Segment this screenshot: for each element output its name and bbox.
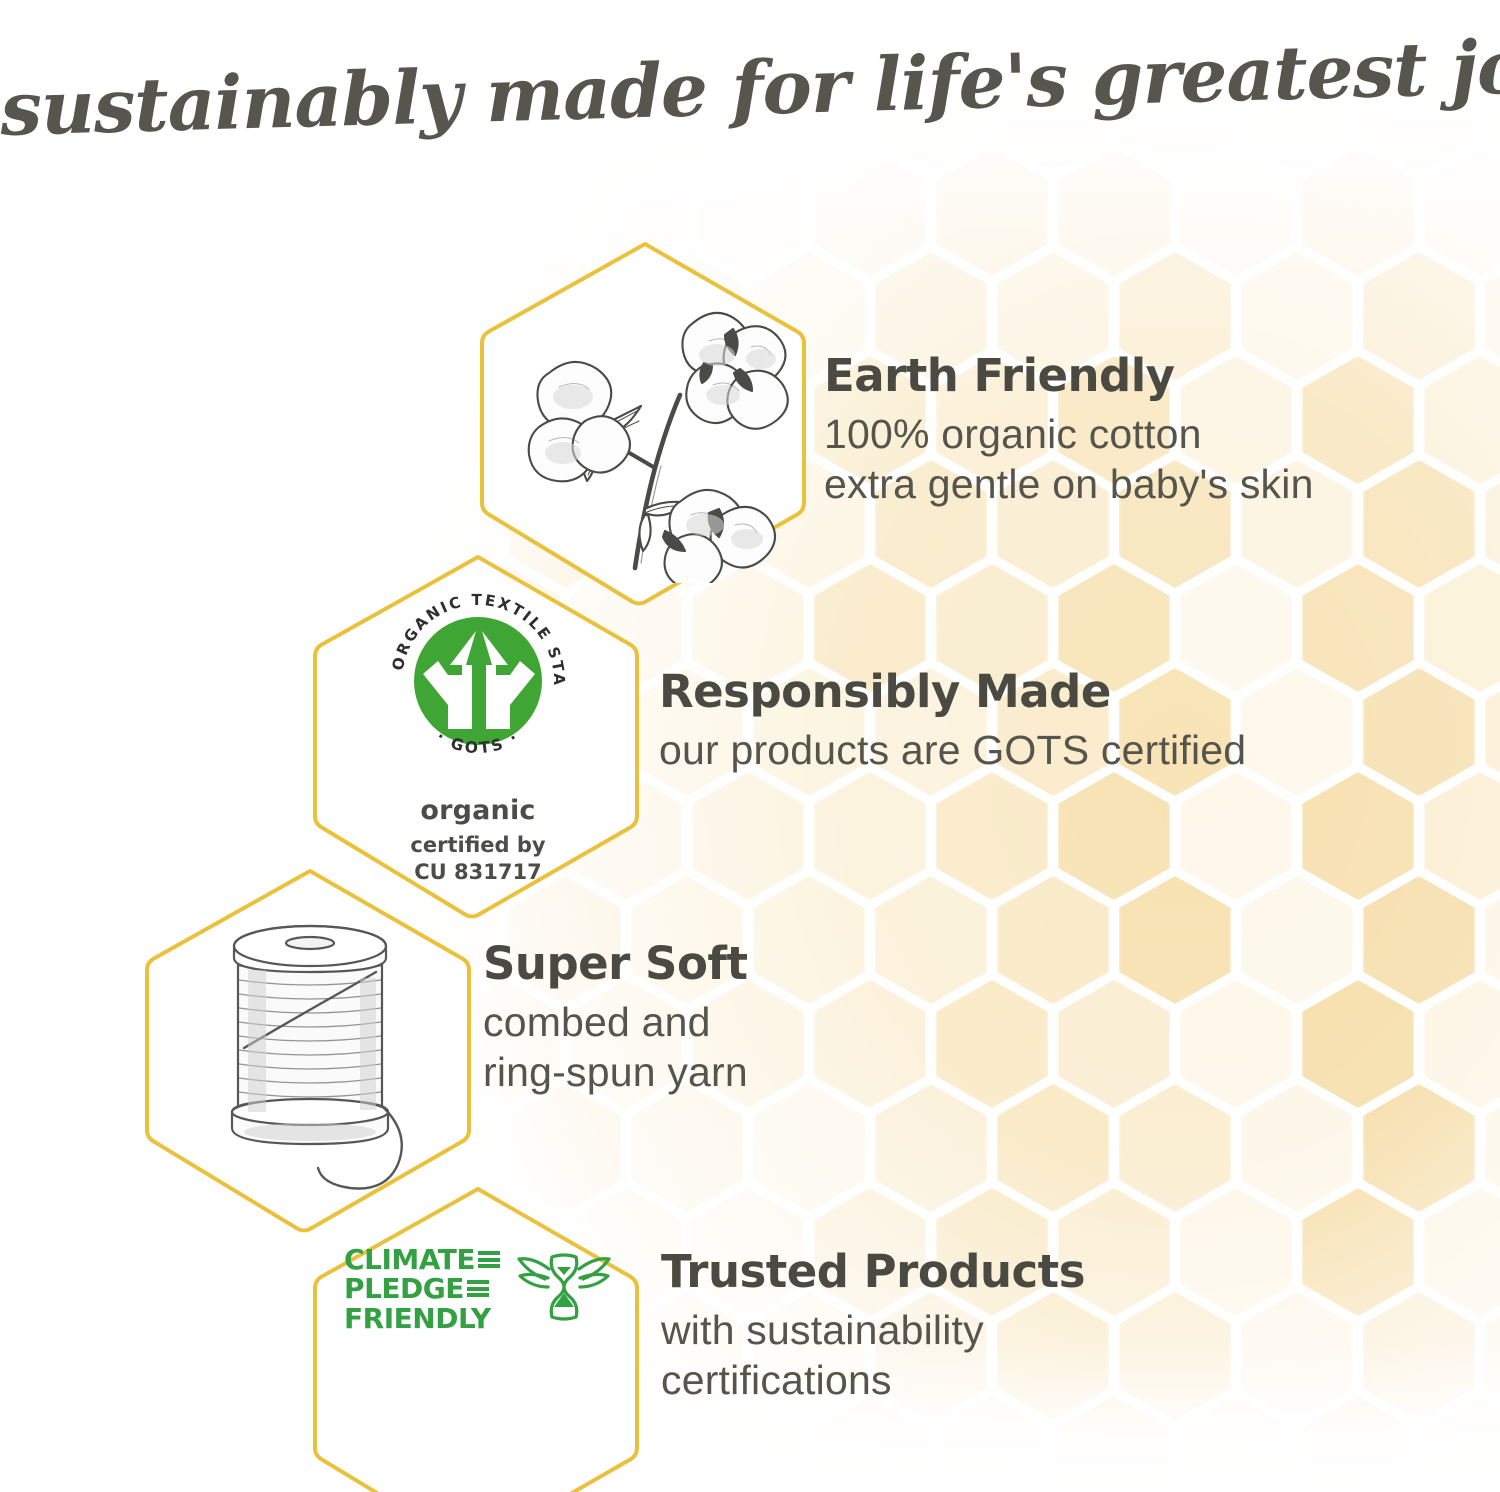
honeycomb-cell — [1302, 1188, 1414, 1316]
feature-infographic-panel: sustainably made for life's greatest joy… — [0, 0, 1500, 1492]
honeycomb-cell — [875, 1084, 987, 1212]
feature-line: with sustainability — [661, 1305, 1085, 1355]
honeycomb-cell — [143, 668, 255, 796]
cpf-line-3: FRIENDLY — [344, 1304, 491, 1333]
honeycomb-cell — [21, 1292, 133, 1420]
honeycomb-cell — [1424, 980, 1500, 1108]
honeycomb-cell — [1363, 1292, 1475, 1420]
honeycomb-cell — [692, 1396, 804, 1492]
honeycomb-cell — [1180, 1396, 1292, 1492]
feature-text-responsibly-made: Responsibly Made our products are GOTS c… — [659, 668, 1246, 775]
honeycomb-cell — [692, 772, 804, 900]
honeycomb-cell — [82, 1396, 194, 1492]
honeycomb-cell — [82, 356, 194, 484]
feature-line: 100% organic cotton — [824, 409, 1314, 459]
feature-line: our products are GOTS certified — [659, 725, 1246, 775]
honeycomb-cell — [1424, 148, 1500, 276]
honeycomb-cell — [1363, 668, 1475, 796]
honeycomb-cell — [1180, 148, 1292, 276]
honeycomb-cell — [1180, 980, 1292, 1108]
honeycomb-cell — [21, 876, 133, 1004]
honeycomb-cell — [1302, 148, 1414, 276]
honeycomb-cell — [143, 252, 255, 380]
honeycomb-cell — [204, 356, 316, 484]
honeycomb-cell — [875, 876, 987, 1004]
climate-pledge-friendly-icon: CLIMATE PLEDGE FRIENDLY — [313, 1183, 643, 1492]
feature-text-trusted-products: Trusted Products with sustainability cer… — [661, 1248, 1085, 1405]
winged-hourglass-icon — [516, 1245, 612, 1333]
honeycomb-cell — [814, 1396, 926, 1492]
feature-line: extra gentle on baby's skin — [824, 459, 1314, 509]
feature-hex-trusted-products: CLIMATE PLEDGE FRIENDLY — [313, 1183, 643, 1492]
feature-text-super-soft: Super Soft combed and ring-spun yarn — [483, 940, 748, 1097]
honeycomb-cell — [1119, 1292, 1231, 1420]
feature-title: Responsibly Made — [659, 668, 1246, 717]
honeycomb-cell — [1302, 980, 1414, 1108]
honeycomb-cell — [82, 148, 194, 276]
honeycomb-cell — [814, 772, 926, 900]
honeycomb-cell — [1424, 356, 1500, 484]
honeycomb-cell — [1424, 564, 1500, 692]
honeycomb-cell — [1058, 980, 1170, 1108]
feature-text-earth-friendly: Earth Friendly 100% organic cotton extra… — [824, 352, 1314, 509]
honeycomb-cell — [1119, 876, 1231, 1004]
honeycomb-cell — [1424, 772, 1500, 900]
honeycomb-cell — [0, 564, 72, 692]
feature-title: Super Soft — [483, 940, 748, 989]
honeycomb-cell — [204, 148, 316, 276]
honeycomb-cell — [143, 1292, 255, 1420]
gots-caption-organic: organic — [420, 795, 535, 826]
honeycomb-cell — [1363, 876, 1475, 1004]
gots-seal-icon: GLOBAL ORGANIC TEXTILE STANDARD · GOTS · — [376, 579, 580, 783]
cpf-wordmark: CLIMATE PLEDGE FRIENDLY — [344, 1245, 500, 1332]
honeycomb-cell — [936, 980, 1048, 1108]
cpf-bars-icon — [478, 1251, 500, 1268]
honeycomb-cell — [1241, 1292, 1353, 1420]
honeycomb-cell — [0, 148, 72, 276]
feature-line: certifications — [661, 1355, 1085, 1405]
honeycomb-cell — [936, 148, 1048, 276]
feature-line: ring-spun yarn — [483, 1047, 748, 1097]
honeycomb-cell — [1241, 876, 1353, 1004]
honeycomb-cell — [936, 772, 1048, 900]
honeycomb-cell — [204, 564, 316, 692]
honeycomb-cell — [1241, 1084, 1353, 1212]
honeycomb-cell — [21, 1084, 133, 1212]
feature-line: combed and — [483, 997, 748, 1047]
honeycomb-cell — [1302, 772, 1414, 900]
honeycomb-cell — [0, 356, 72, 484]
honeycomb-cell — [21, 252, 133, 380]
honeycomb-cell — [0, 772, 72, 900]
honeycomb-cell — [1302, 356, 1414, 484]
honeycomb-cell — [0, 1188, 72, 1316]
feature-title: Earth Friendly — [824, 352, 1314, 401]
honeycomb-cell — [326, 148, 438, 276]
honeycomb-cell — [814, 980, 926, 1108]
honeycomb-cell — [21, 460, 133, 588]
cpf-bars-icon — [467, 1280, 489, 1297]
cpf-line-2: PLEDGE — [344, 1274, 464, 1303]
honeycomb-cell — [814, 148, 926, 276]
feature-title: Trusted Products — [661, 1248, 1085, 1297]
honeycomb-cell — [936, 1396, 1048, 1492]
honeycomb-cell — [1424, 1188, 1500, 1316]
honeycomb-cell — [1058, 1396, 1170, 1492]
honeycomb-cell — [997, 1084, 1109, 1212]
honeycomb-cell — [1058, 148, 1170, 276]
cpf-line-1: CLIMATE — [344, 1245, 475, 1274]
honeycomb-cell — [265, 252, 377, 380]
honeycomb-cell — [1363, 1084, 1475, 1212]
honeycomb-cell — [1180, 1188, 1292, 1316]
honeycomb-cell — [1180, 772, 1292, 900]
honeycomb-cell — [1363, 252, 1475, 380]
honeycomb-cell — [204, 1396, 316, 1492]
honeycomb-cell — [1058, 772, 1170, 900]
honeycomb-cell — [1302, 1396, 1414, 1492]
honeycomb-cell — [143, 460, 255, 588]
honeycomb-cell — [1119, 1084, 1231, 1212]
honeycomb-cell — [753, 876, 865, 1004]
honeycomb-cell — [1241, 668, 1353, 796]
honeycomb-cell — [1363, 460, 1475, 588]
honeycomb-cell — [0, 980, 72, 1108]
gots-certified-by-line: certified by — [410, 833, 545, 857]
thread-spool-icon — [145, 865, 475, 1235]
honeycomb-cell — [21, 668, 133, 796]
honeycomb-cell — [997, 876, 1109, 1004]
honeycomb-cell — [631, 1084, 743, 1212]
feature-hex-super-soft — [145, 865, 475, 1235]
honeycomb-cell — [753, 1084, 865, 1212]
honeycomb-cell — [326, 356, 438, 484]
honeycomb-cell — [82, 564, 194, 692]
honeycomb-cell — [1302, 564, 1414, 692]
